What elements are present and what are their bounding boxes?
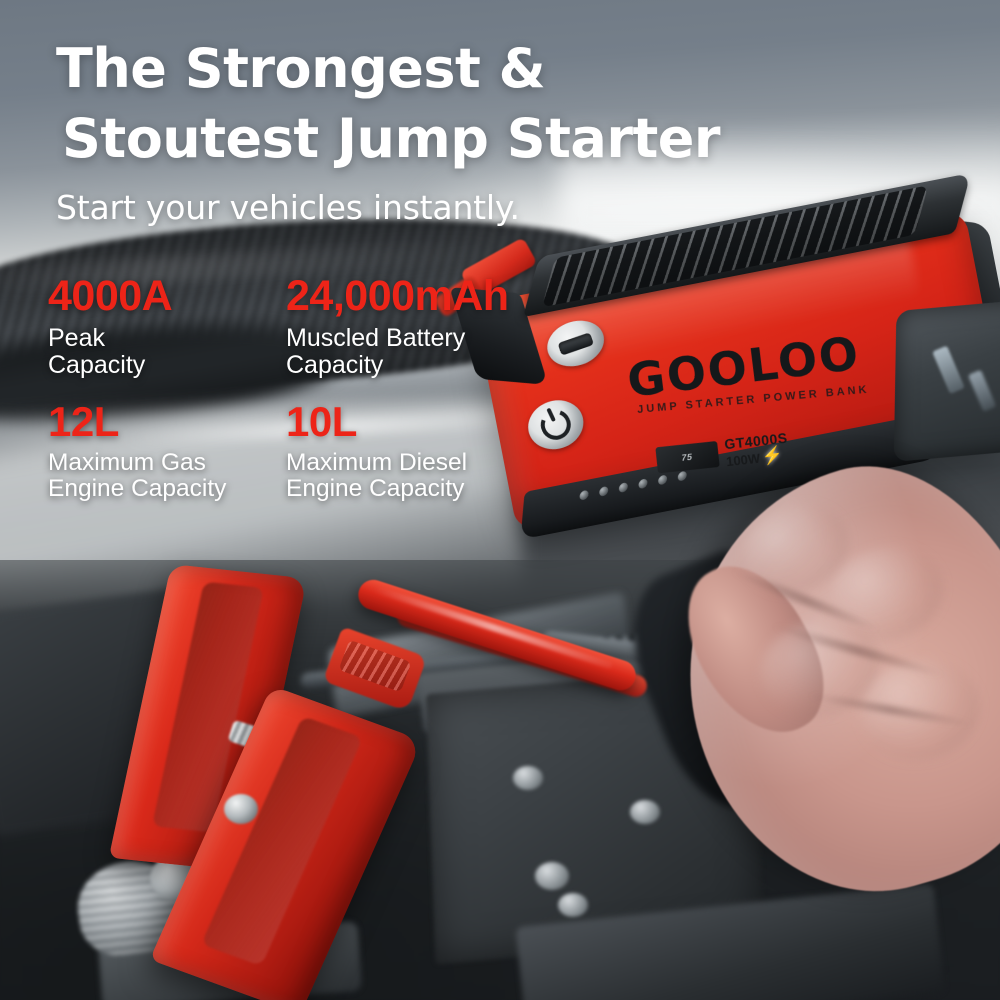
- text-overlay: The Strongest & Stoutest Jump Starter St…: [0, 0, 1000, 1000]
- spec-label: Peak Capacity: [48, 325, 286, 379]
- spec-value: 24,000mAh: [286, 275, 566, 319]
- spec-grid: 4000A Peak Capacity 24,000mAh Muscled Ba…: [48, 275, 568, 503]
- spec-peak-capacity: 4000A Peak Capacity: [48, 275, 286, 379]
- spec-row: 12L Maximum Gas Engine Capacity 10L Maxi…: [48, 401, 568, 503]
- headline: The Strongest & Stoutest Jump Starter: [56, 34, 776, 174]
- promo-banner: GOOLOO JUMP STARTER POWER BANK 75 GT4000…: [0, 0, 1000, 1000]
- spec-max-gas-engine: 12L Maximum Gas Engine Capacity: [48, 401, 286, 503]
- spec-row: 4000A Peak Capacity 24,000mAh Muscled Ba…: [48, 275, 568, 379]
- spec-value: 4000A: [48, 275, 286, 319]
- spec-label: Maximum Diesel Engine Capacity: [286, 450, 566, 503]
- headline-line-1: The Strongest &: [56, 34, 776, 104]
- spec-battery-capacity: 24,000mAh Muscled Battery Capacity: [286, 275, 566, 379]
- subheadline: Start your vehicles instantly.: [56, 188, 520, 227]
- spec-max-diesel-engine: 10L Maximum Diesel Engine Capacity: [286, 401, 566, 503]
- headline-line-2: Stoutest Jump Starter: [62, 104, 776, 174]
- spec-value: 10L: [286, 401, 566, 444]
- spec-label: Muscled Battery Capacity: [286, 325, 566, 379]
- spec-label: Maximum Gas Engine Capacity: [48, 450, 286, 503]
- spec-value: 12L: [48, 401, 286, 444]
